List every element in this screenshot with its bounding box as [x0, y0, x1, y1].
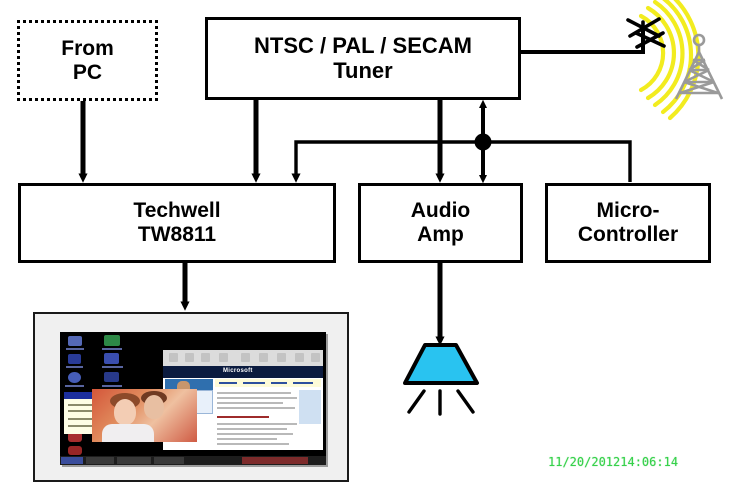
- text-line: [217, 443, 289, 445]
- block-from-pc-line2: PC: [73, 61, 102, 85]
- block-techwell[interactable]: Techwell TW8811: [18, 183, 336, 263]
- speaker-sound-lines: [409, 391, 473, 414]
- section-heading: [217, 416, 269, 418]
- text-line: [217, 433, 293, 435]
- block-audio-amp-line2: Amp: [417, 223, 464, 247]
- block-microcontroller-line1: Micro-: [597, 199, 660, 223]
- block-techwell-line2: TW8811: [138, 223, 216, 247]
- block-techwell-line1: Techwell: [133, 199, 220, 223]
- photo-subject-face: [144, 395, 164, 419]
- block-audio-amp-line1: Audio: [411, 199, 470, 223]
- text-line: [217, 392, 291, 394]
- photo-subject-face: [114, 399, 136, 425]
- desktop-icon: [104, 353, 119, 364]
- toolbar-icon: [295, 353, 304, 362]
- desktop-icon-label: [102, 348, 122, 350]
- site-navbar: [215, 379, 321, 387]
- desktop-icon-label: [66, 366, 83, 368]
- speaker-icon: [405, 345, 477, 383]
- block-tuner[interactable]: NTSC / PAL / SECAM Tuner: [205, 17, 521, 100]
- photo-window: [92, 389, 197, 442]
- block-from-pc[interactable]: From PC: [17, 20, 158, 101]
- block-microcontroller-line2: Controller: [578, 223, 678, 247]
- desktop-icon: [68, 372, 81, 383]
- block-tuner-line2: Tuner: [333, 59, 392, 84]
- taskbar-item-active: [242, 457, 308, 464]
- toolbar-icon: [219, 353, 228, 362]
- photo-subject-body: [102, 424, 154, 442]
- block-audio-amp[interactable]: Audio Amp: [358, 183, 523, 263]
- text-line: [217, 428, 287, 430]
- desktop-icon: [68, 354, 81, 364]
- desktop-icon: [68, 336, 82, 346]
- diagram-canvas: From PC NTSC / PAL / SECAM Tuner Techwel…: [0, 0, 746, 492]
- text-line: [217, 438, 277, 440]
- block-tuner-line1: NTSC / PAL / SECAM: [254, 34, 472, 59]
- desktop-icon-label: [65, 385, 84, 387]
- toolbar-icon: [241, 353, 250, 362]
- taskbar-item: [86, 457, 114, 464]
- lcd-monitor[interactable]: Microsoft: [33, 312, 349, 482]
- desktop-icon: [104, 335, 120, 346]
- toolbar-icon: [201, 353, 210, 362]
- text-line: [217, 423, 297, 425]
- sidebar-panel: [299, 390, 321, 424]
- timestamp-overlay: 11/20/201214:06:14: [548, 455, 678, 469]
- desktop-icon-label: [102, 366, 123, 368]
- desktop-icon-label: [102, 385, 122, 387]
- taskbar: [60, 456, 326, 465]
- taskbar-item: [117, 457, 151, 464]
- desktop-icon-label: [66, 348, 84, 350]
- text-line: [217, 397, 297, 399]
- monitor-screen: Microsoft: [60, 332, 326, 465]
- toolbar-icon: [311, 353, 320, 362]
- text-line: [217, 402, 283, 404]
- toolbar-icon: [259, 353, 268, 362]
- desktop-icon: [104, 372, 119, 382]
- site-logo: Microsoft: [223, 368, 253, 374]
- block-from-pc-line1: From: [61, 37, 114, 61]
- start-button: [61, 457, 83, 464]
- taskbar-item: [154, 457, 184, 464]
- toolbar-icon: [277, 353, 286, 362]
- block-microcontroller[interactable]: Micro- Controller: [545, 183, 711, 263]
- desktop-icon: [68, 446, 82, 455]
- text-line: [217, 407, 295, 409]
- toolbar-icon: [169, 353, 178, 362]
- toolbar-icon: [185, 353, 194, 362]
